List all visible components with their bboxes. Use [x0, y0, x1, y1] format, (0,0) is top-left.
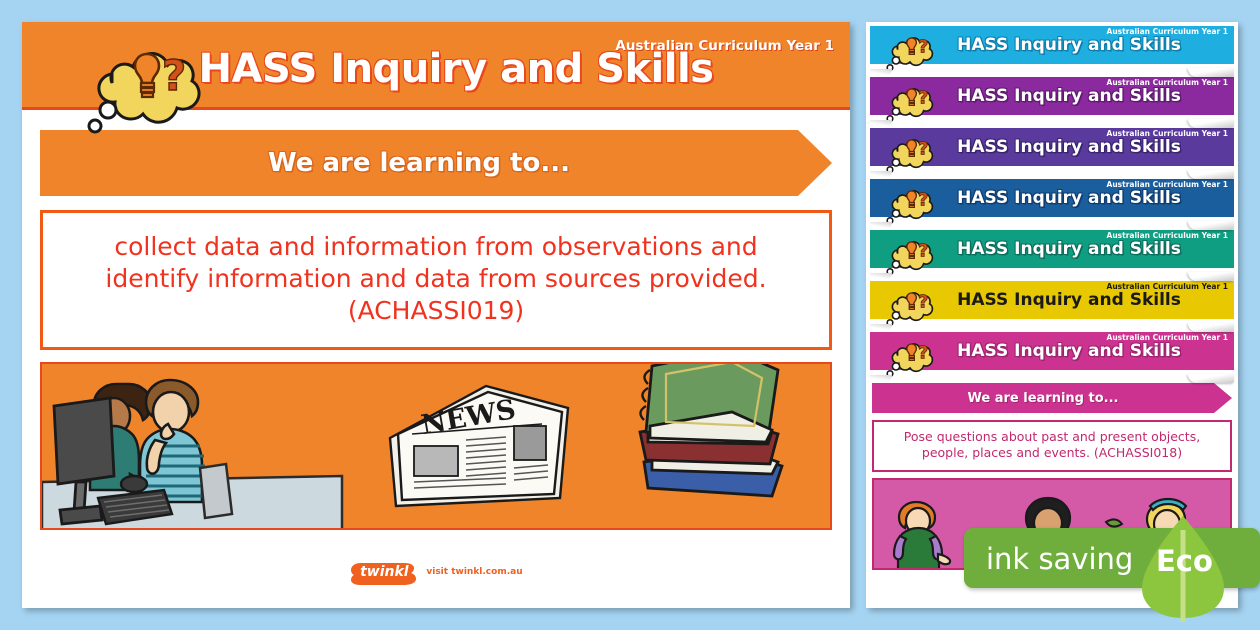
preview-strip[interactable]: Australian Curriculum Year 1HASS Inquiry… — [870, 77, 1234, 121]
objective-box: collect data and information from observ… — [40, 210, 832, 350]
preview-strip[interactable]: Australian Curriculum Year 1HASS Inquiry… — [870, 332, 1234, 376]
preview-strip[interactable]: Australian Curriculum Year 1HASS Inquiry… — [870, 179, 1234, 223]
thought-bubble-lightbulb-question-icon: ? — [884, 79, 936, 123]
thought-bubble-lightbulb-question-icon: ? — [78, 30, 208, 138]
thought-bubble-lightbulb-question-icon: ? — [884, 283, 936, 327]
preview-strip[interactable]: Australian Curriculum Year 1HASS Inquiry… — [870, 230, 1234, 274]
page-curl-right — [1188, 68, 1234, 77]
thought-bubble-lightbulb-question-icon: ? — [884, 130, 936, 174]
thought-bubble-lightbulb-question-icon: ? — [884, 334, 936, 378]
ink-saving-eco-badge: ink saving Eco — [964, 520, 1260, 590]
eco-label: Eco — [1156, 544, 1213, 578]
poster-header: Australian Curriculum Year 1 HASS Inquir… — [22, 22, 850, 110]
preview-strip[interactable]: Australian Curriculum Year 1HASS Inquiry… — [870, 26, 1234, 70]
objective-text: collect data and information from observ… — [69, 231, 803, 327]
we-are-learning-banner: We are learning to... — [40, 130, 832, 196]
svg-text:?: ? — [162, 51, 186, 100]
preview-objective-text: Pose questions about past and present ob… — [904, 429, 1200, 460]
thought-bubble-lightbulb-question-icon: ? — [884, 232, 936, 276]
newspaper-stack-illustration: NEWS — [382, 378, 582, 518]
page-curl-left — [870, 171, 892, 179]
page-curl-left — [870, 120, 892, 128]
thought-bubble-lightbulb-question-icon: ? — [884, 28, 936, 72]
poster-footer: twinkl visit twinkl.com.au — [22, 536, 850, 608]
page-curl-right — [1188, 323, 1234, 332]
learning-banner-wrap: We are learning to... — [40, 130, 832, 196]
svg-text:?: ? — [918, 139, 928, 159]
svg-text:?: ? — [918, 88, 928, 108]
book-stack-illustration — [622, 362, 802, 516]
children-at-computer-illustration — [42, 364, 342, 530]
illustration-band: NEWS — [40, 362, 832, 530]
preview-objective-box: Pose questions about past and present ob… — [872, 420, 1232, 472]
we-are-learning-label: We are learning to... — [268, 148, 604, 178]
svg-text:?: ? — [918, 343, 928, 363]
page-curl-left — [870, 69, 892, 77]
svg-text:?: ? — [918, 292, 928, 312]
page-curl-left — [870, 375, 892, 383]
twinkl-url-text[interactable]: visit twinkl.com.au — [426, 567, 522, 577]
page-curl-right — [1188, 221, 1234, 230]
ink-saving-label: ink saving — [986, 542, 1133, 576]
page-curl-right — [1188, 119, 1234, 128]
preview-strip[interactable]: Australian Curriculum Year 1HASS Inquiry… — [870, 128, 1234, 172]
twinkl-wordmark: twinkl — [349, 559, 419, 585]
main-poster-card[interactable]: Australian Curriculum Year 1 HASS Inquir… — [22, 22, 850, 608]
svg-text:?: ? — [918, 241, 928, 261]
page-curl-right — [1188, 170, 1234, 179]
thought-bubble-lightbulb-question-icon: ? — [884, 181, 936, 225]
twinkl-logo[interactable]: twinkl — [349, 559, 419, 585]
page-curl-left — [870, 324, 892, 332]
svg-text:?: ? — [918, 190, 928, 210]
preview-we-are-learning-label: We are learning to... — [968, 391, 1137, 406]
page-curl-left — [870, 273, 892, 281]
preview-strip-list: Australian Curriculum Year 1HASS Inquiry… — [870, 26, 1234, 376]
svg-text:?: ? — [918, 37, 928, 57]
preview-strip[interactable]: Australian Curriculum Year 1HASS Inquiry… — [870, 281, 1234, 325]
screenshot-stage: Australian Curriculum Year 1 HASS Inquir… — [0, 0, 1260, 630]
page-curl-right — [1188, 374, 1234, 383]
page-curl-right — [1188, 272, 1234, 281]
preview-we-are-learning-banner: We are learning to... — [872, 383, 1232, 413]
page-curl-left — [870, 222, 892, 230]
